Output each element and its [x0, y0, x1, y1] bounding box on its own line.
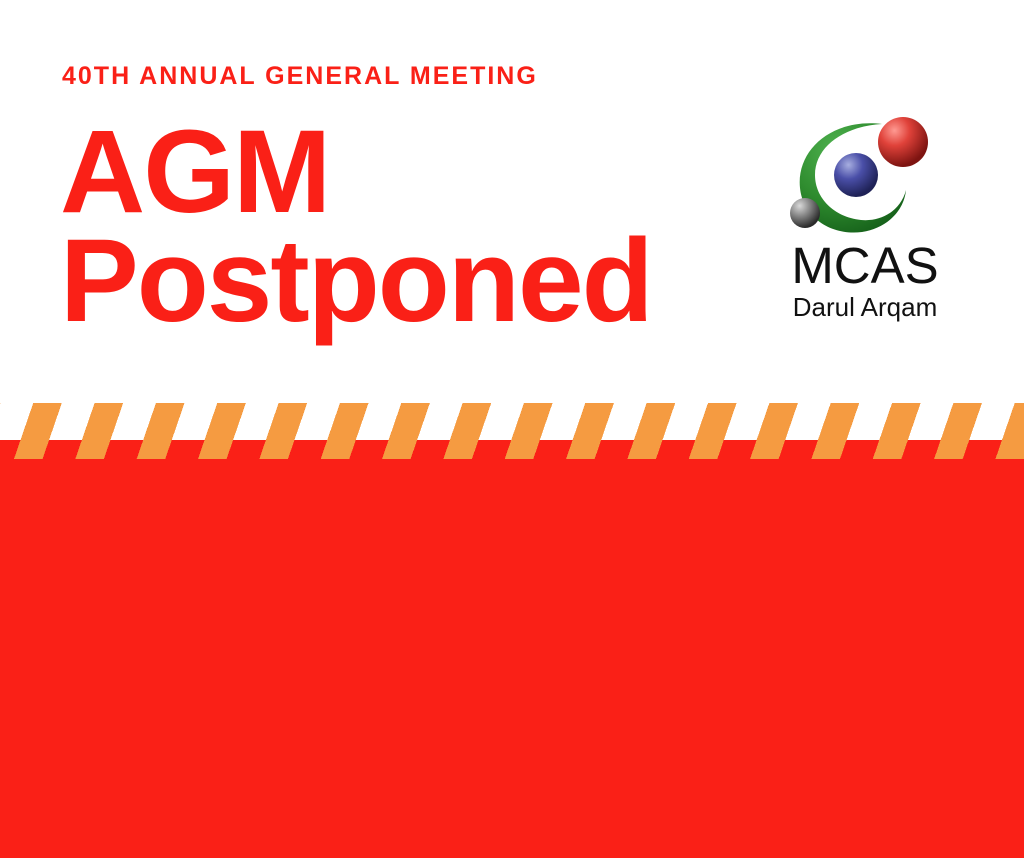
gray-sphere-icon — [790, 198, 820, 228]
header-section: 40TH ANNUAL GENERAL MEETING AGM Postpone… — [0, 0, 1024, 403]
logo-name: MCAS — [770, 240, 960, 291]
kicker-label: 40TH ANNUAL GENERAL MEETING — [62, 62, 538, 91]
logo-wordmark: MCAS Darul Arqam — [770, 240, 960, 324]
hazard-stripe-divider — [0, 403, 1024, 459]
blue-sphere-icon — [834, 153, 878, 197]
red-sphere-icon — [878, 117, 928, 167]
headline-line-1: AGM — [60, 118, 760, 227]
page-title: AGM Postponed — [60, 118, 760, 335]
announcement-panel: MCAS Council has decided to postpone the… — [0, 440, 1024, 858]
poster-canvas: 40TH ANNUAL GENERAL MEETING AGM Postpone… — [0, 0, 1024, 858]
crescent-spheres-icon — [770, 112, 960, 240]
headline-line-2: Postponed — [60, 227, 760, 336]
logo-subtitle: Darul Arqam — [770, 291, 960, 324]
mcas-logo: MCAS Darul Arqam — [770, 112, 960, 312]
